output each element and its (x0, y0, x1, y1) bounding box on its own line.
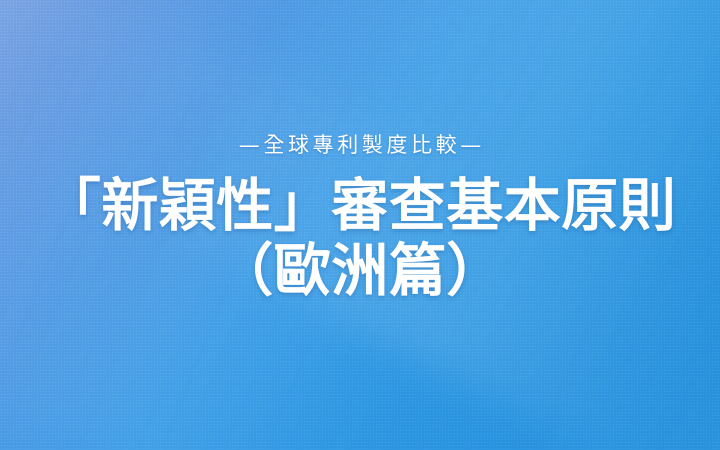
card-subtitle: —全球專利製度比較— (235, 133, 485, 157)
page-title-line-1: 「新穎性」審查基本原則 (44, 174, 677, 238)
title-text-block: —全球專利製度比較— 「新穎性」審查基本原則 （歐洲篇） (0, 0, 720, 450)
title-card: —全球專利製度比較— 「新穎性」審查基本原則 （歐洲篇） (0, 0, 720, 450)
page-title: 「新穎性」審查基本原則 （歐洲篇） (44, 174, 677, 303)
page-title-line-2: （歐洲篇） (44, 239, 677, 303)
